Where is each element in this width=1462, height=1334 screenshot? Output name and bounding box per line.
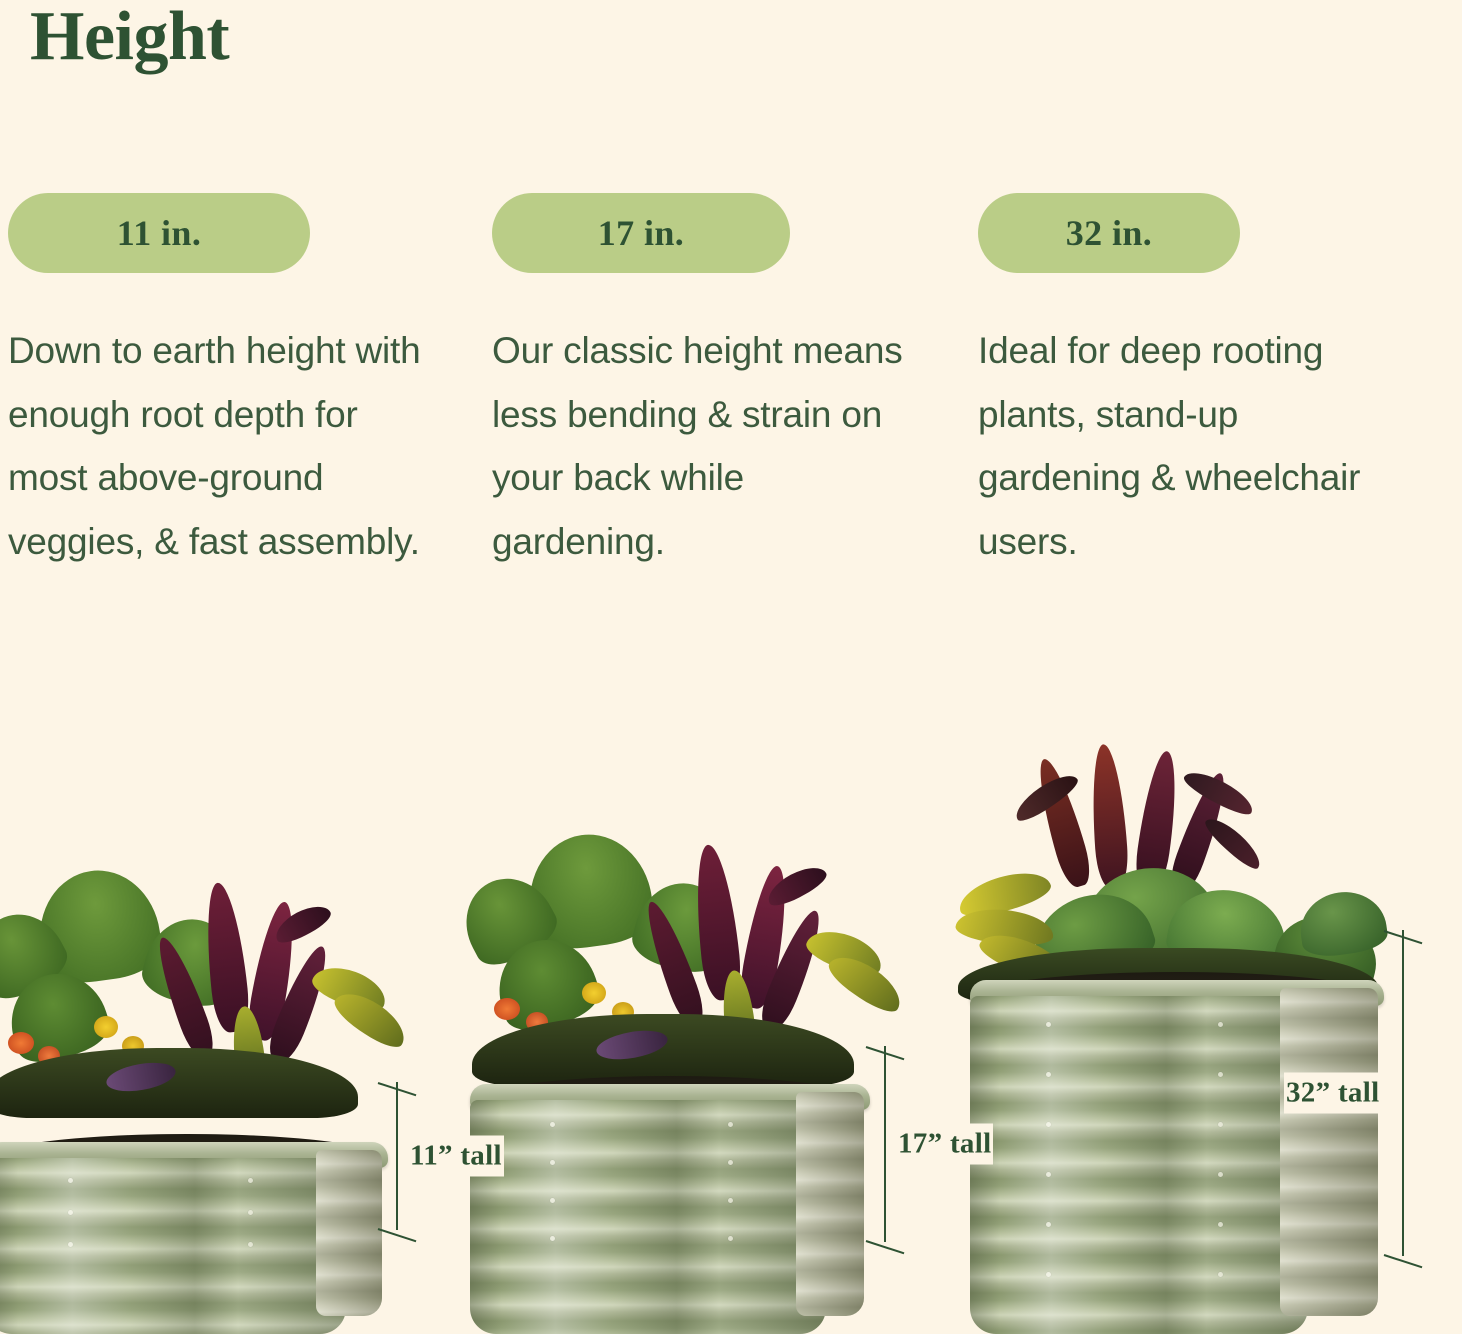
dimension-label-32in: 32” tall [1284, 1073, 1381, 1114]
metal-bed-17in [470, 1076, 870, 1334]
height-badge-11in[interactable]: 11 in. [8, 193, 310, 273]
leaf-philodendron [1296, 887, 1390, 960]
height-badge-32in[interactable]: 32 in. [978, 193, 1240, 273]
rivet [248, 1242, 253, 1247]
leaf-cordyline [1030, 755, 1095, 890]
dimension-label-11in: 11” tall [408, 1136, 504, 1177]
height-column-11in: 11 in. Down to earth height with enough … [8, 193, 448, 574]
rivet [550, 1122, 555, 1127]
rivet [1218, 1022, 1223, 1027]
rivet [550, 1236, 555, 1241]
dimension-callout-17in: 17” tall [862, 1046, 982, 1242]
height-comparison-page: Height 11 in. Down to earth height with … [0, 0, 1462, 1334]
foliage-understory [0, 1048, 358, 1118]
flower-yellow [582, 982, 606, 1004]
height-badge-17in[interactable]: 17 in. [492, 193, 790, 273]
flower-orange [8, 1032, 34, 1054]
rivet [728, 1198, 733, 1203]
page-title: Height [30, 2, 229, 72]
bed-front-panel [970, 996, 1308, 1334]
height-column-17in: 17 in. Our classic height means less ben… [492, 193, 932, 574]
flower-yellow [94, 1016, 118, 1038]
planter-bed-illustrations [0, 740, 1462, 1334]
dimension-line [396, 1082, 398, 1230]
rivet [1046, 1022, 1051, 1027]
rivet [1046, 1172, 1051, 1177]
rivet [1046, 1272, 1051, 1277]
height-description-11in: Down to earth height with enough root de… [8, 319, 428, 574]
dimension-line [1402, 930, 1404, 1256]
metal-bed-32in [970, 972, 1384, 1334]
metal-bed-11in [0, 1134, 388, 1334]
leaf-cordyline [1201, 812, 1266, 874]
bed-front-panel [470, 1100, 826, 1334]
rivet [1218, 1122, 1223, 1127]
dimension-callout-11in: 11” tall [374, 1082, 494, 1230]
rivet [550, 1198, 555, 1203]
planter-bed-11in [0, 800, 456, 1334]
rivet [1218, 1272, 1223, 1277]
rivet [68, 1178, 73, 1183]
rivet [248, 1210, 253, 1215]
leaf-cordyline [1088, 743, 1130, 889]
rivet [1046, 1122, 1051, 1127]
rivet [1218, 1172, 1223, 1177]
rivet [1218, 1222, 1223, 1227]
bed-side-panel [796, 1092, 864, 1316]
rivet [1046, 1222, 1051, 1227]
height-description-32in: Ideal for deep rooting plants, stand-up … [978, 319, 1388, 574]
height-description-17in: Our classic height means less bending & … [492, 319, 912, 574]
dimension-line [884, 1046, 886, 1242]
rivet [248, 1178, 253, 1183]
rivet [728, 1236, 733, 1241]
rivet [68, 1210, 73, 1215]
rivet [68, 1242, 73, 1247]
rivet [550, 1160, 555, 1165]
bed-side-panel [1280, 988, 1378, 1316]
rivet [1218, 1072, 1223, 1077]
bed-side-panel [316, 1150, 382, 1316]
dimension-label-17in: 17” tall [896, 1124, 993, 1165]
height-column-32in: 32 in. Ideal for deep rooting plants, st… [978, 193, 1418, 574]
rivet [728, 1122, 733, 1127]
rivet [728, 1160, 733, 1165]
dimension-callout-32in: 32” tall [1380, 930, 1462, 1256]
flower-orange [494, 998, 520, 1020]
rivet [1046, 1072, 1051, 1077]
bed-front-panel [0, 1158, 346, 1334]
